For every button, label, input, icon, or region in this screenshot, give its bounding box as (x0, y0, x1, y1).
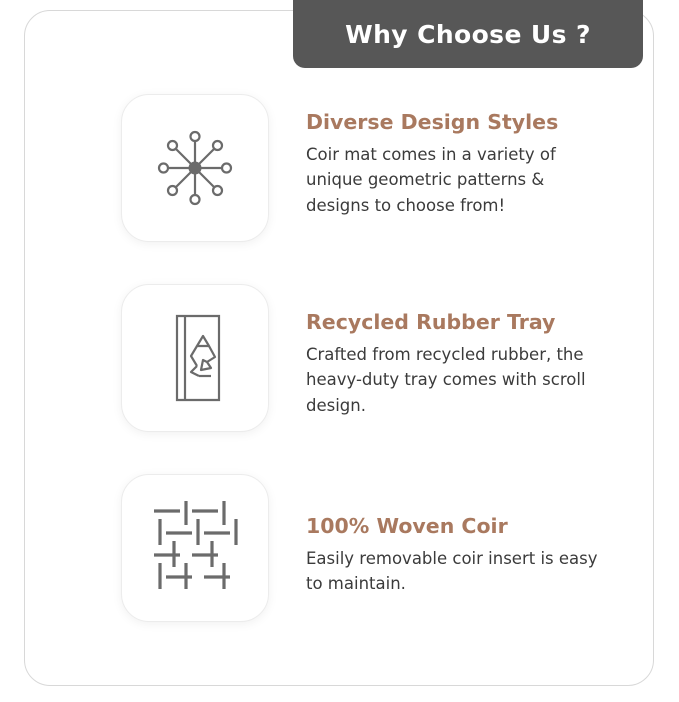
feature-text: Recycled Rubber Tray Crafted from recycl… (306, 284, 606, 418)
feature-description: Coir mat comes in a variety of unique ge… (306, 142, 606, 219)
feature-text: Diverse Design Styles Coir mat comes in … (306, 94, 606, 218)
feature-item-woven-coir: 100% Woven Coir Easily removable coir in… (0, 474, 679, 622)
feature-description: Crafted from recycled rubber, the heavy-… (306, 342, 606, 419)
header-ribbon: Why Choose Us ? (293, 0, 643, 68)
woven-weave-icon (146, 499, 244, 597)
feature-title: Diverse Design Styles (306, 110, 606, 135)
feature-text: 100% Woven Coir Easily removable coir in… (306, 474, 606, 597)
feature-title: Recycled Rubber Tray (306, 310, 606, 335)
network-nodes-icon (147, 120, 243, 216)
feature-title: 100% Woven Coir (306, 514, 606, 539)
icon-tile (121, 94, 269, 242)
icon-tile (121, 474, 269, 622)
icon-tile (121, 284, 269, 432)
feature-description: Easily removable coir insert is easy to … (306, 546, 606, 597)
feature-item-diverse-design-styles: Diverse Design Styles Coir mat comes in … (0, 94, 679, 242)
promo-panel: Why Choose Us ? (0, 0, 679, 702)
recycled-rubber-tray-icon (147, 306, 243, 410)
page-title: Why Choose Us ? (345, 20, 591, 49)
feature-list: Diverse Design Styles Coir mat comes in … (0, 94, 679, 664)
feature-item-recycled-rubber-tray: Recycled Rubber Tray Crafted from recycl… (0, 284, 679, 432)
